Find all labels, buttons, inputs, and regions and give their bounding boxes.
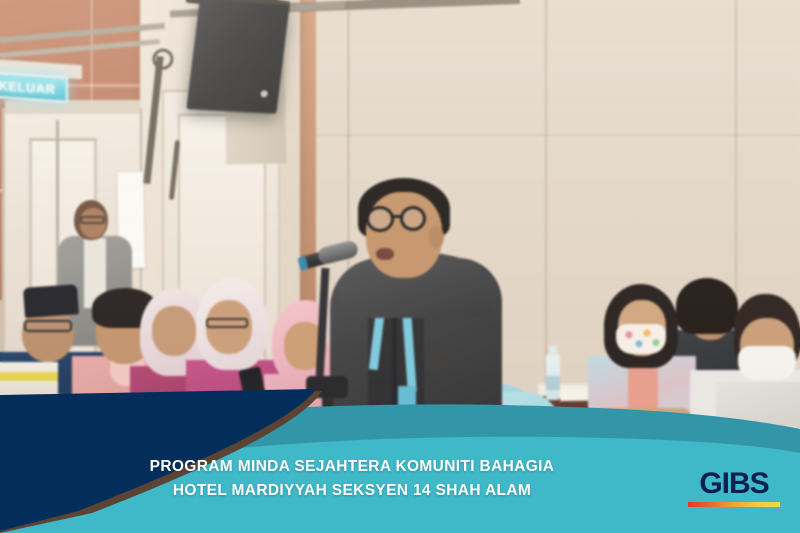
speaker-mouth	[376, 248, 394, 260]
face-mask	[616, 324, 666, 354]
gibs-logo-wordmark: GIBS	[688, 469, 780, 499]
eyeglasses-icon	[400, 206, 426, 231]
lanyard-badge	[398, 386, 416, 412]
audience-member-hair	[676, 278, 738, 334]
event-photo-stage: KELUAR	[0, 0, 800, 533]
microphone-clamp	[306, 376, 348, 398]
songkok-cap	[23, 284, 79, 318]
microphone-stand-lower	[322, 392, 333, 434]
audience-member-face	[152, 306, 196, 356]
face-mask	[738, 346, 796, 380]
exit-sign: KELUAR	[0, 71, 68, 103]
audience-member-glasses	[206, 318, 248, 328]
standing-man-glasses	[80, 216, 105, 224]
gibs-logo-underline	[688, 502, 780, 507]
gibs-logo: GIBS	[688, 469, 780, 507]
speaker-ear	[428, 226, 444, 248]
exit-sign-label: KELUAR	[0, 78, 56, 97]
document-stack	[0, 362, 58, 406]
water-bottle	[546, 354, 560, 400]
caption-line-1: PROGRAM MINDA SEJAHTERA KOMUNITI BAHAGIA	[150, 458, 555, 475]
eyeglasses-icon	[366, 206, 394, 232]
audience-member-body	[716, 382, 800, 444]
photograph: KELUAR	[0, 0, 800, 533]
eyeglasses-bridge	[392, 215, 402, 218]
caption-line-2: HOTEL MARDIYYAH SEKSYEN 14 SHAH ALAM	[0, 479, 704, 503]
audience-member-glasses	[24, 320, 72, 332]
audience-member-arms	[590, 408, 694, 434]
pa-speaker-icon	[186, 0, 290, 114]
banner-caption: PROGRAM MINDA SEJAHTERA KOMUNITI BAHAGIA…	[0, 455, 800, 503]
